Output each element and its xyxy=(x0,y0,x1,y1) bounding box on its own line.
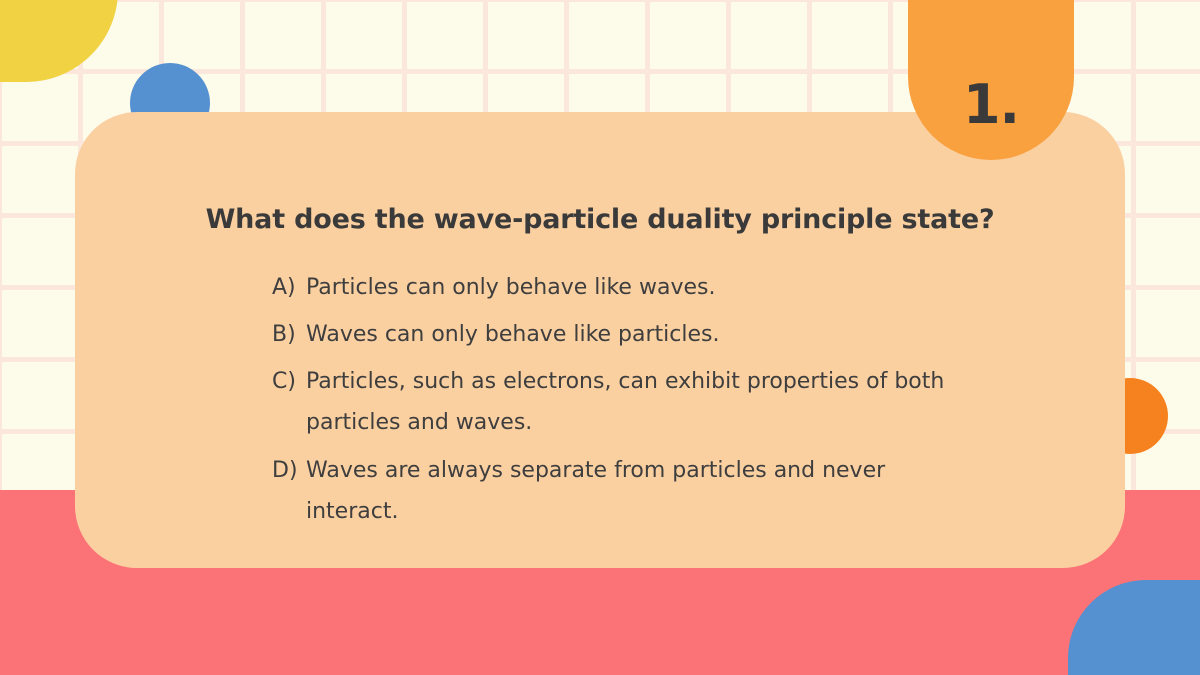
option-text-d: Waves are always separate from particles… xyxy=(306,450,972,532)
question-number-label: 1. xyxy=(963,78,1019,132)
list-item[interactable]: B) Waves can only behave like particles. xyxy=(272,314,972,355)
option-letter-c: C) xyxy=(272,361,306,402)
list-item[interactable]: D) Waves are always separate from partic… xyxy=(272,450,972,532)
question-number-tab: 1. xyxy=(908,0,1074,160)
option-text-b: Waves can only behave like particles. xyxy=(306,314,972,355)
quiz-slide: What does the wave-particle duality prin… xyxy=(0,0,1200,675)
option-letter-b: B) xyxy=(272,314,306,355)
page-title: What does the wave-particle duality prin… xyxy=(75,204,1125,235)
list-item[interactable]: A) Particles can only behave like waves. xyxy=(272,267,972,308)
option-text-a: Particles can only behave like waves. xyxy=(306,267,972,308)
list-item[interactable]: C) Particles, such as electrons, can exh… xyxy=(272,361,972,443)
option-letter-d: D) xyxy=(272,450,306,491)
option-letter-a: A) xyxy=(272,267,306,308)
option-text-c: Particles, such as electrons, can exhibi… xyxy=(306,361,972,443)
answer-options-list: A) Particles can only behave like waves.… xyxy=(272,267,972,538)
question-card: What does the wave-particle duality prin… xyxy=(75,112,1125,568)
